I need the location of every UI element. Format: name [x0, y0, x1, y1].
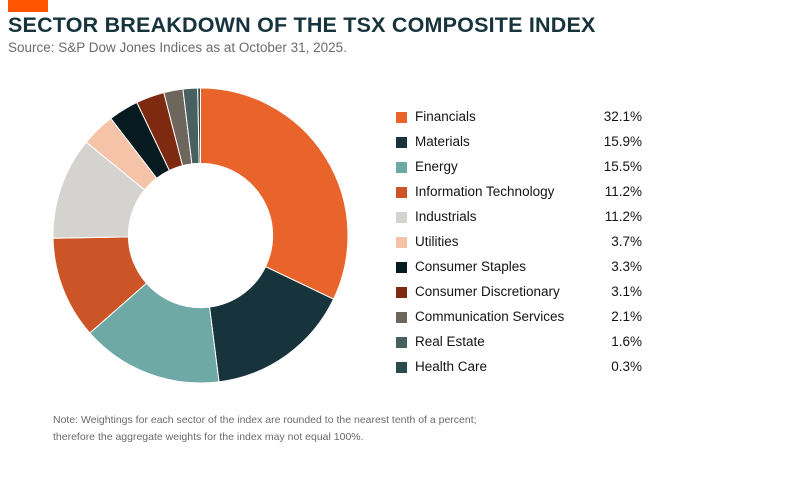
legend-color-swatch: [396, 212, 407, 223]
legend-item[interactable]: Real Estate1.6%: [396, 329, 642, 354]
legend-item-label: Utilities: [415, 229, 459, 254]
legend-item-label: Information Technology: [415, 179, 554, 204]
legend-item[interactable]: Information Technology11.2%: [396, 179, 642, 204]
legend-color-swatch: [396, 287, 407, 298]
footnote-line-1: Note: Weightings for each sector of the …: [53, 412, 573, 429]
legend-item[interactable]: Materials15.9%: [396, 129, 642, 154]
legend-item-value: 0.3%: [572, 354, 642, 379]
legend-item[interactable]: Communication Services2.1%: [396, 304, 642, 329]
legend-item-value: 32.1%: [572, 104, 642, 129]
chart-footnote: Note: Weightings for each sector of the …: [53, 412, 573, 446]
legend-item-label: Industrials: [415, 204, 477, 229]
legend-color-swatch: [396, 312, 407, 323]
legend-item-label: Communication Services: [415, 304, 564, 329]
legend-item-label: Health Care: [415, 354, 487, 379]
legend-item[interactable]: Industrials11.2%: [396, 204, 642, 229]
legend-item-value: 1.6%: [572, 329, 642, 354]
legend-color-swatch: [396, 162, 407, 173]
legend-item-label: Real Estate: [415, 329, 485, 354]
legend-color-swatch: [396, 112, 407, 123]
footnote-line-2: therefore the aggregate weights for the …: [53, 429, 573, 446]
legend-item-value: 15.5%: [572, 154, 642, 179]
donut-slice[interactable]: [201, 88, 349, 299]
legend-item-label: Energy: [415, 154, 458, 179]
legend-color-swatch: [396, 237, 407, 248]
legend-item-label: Consumer Discretionary: [415, 279, 560, 304]
legend-color-swatch: [396, 337, 407, 348]
legend-color-swatch: [396, 262, 407, 273]
legend-item-value: 11.2%: [572, 204, 642, 229]
legend-item-label: Financials: [415, 104, 476, 129]
legend-item-value: 3.7%: [572, 229, 642, 254]
legend-item-label: Consumer Staples: [415, 254, 526, 279]
legend-item[interactable]: Utilities3.7%: [396, 229, 642, 254]
legend-item-value: 2.1%: [572, 304, 642, 329]
chart-legend: Financials32.1%Materials15.9%Energy15.5%…: [396, 104, 642, 379]
donut-chart: [53, 88, 348, 383]
legend-item-value: 3.3%: [572, 254, 642, 279]
legend-item[interactable]: Health Care0.3%: [396, 354, 642, 379]
legend-color-swatch: [396, 137, 407, 148]
legend-color-swatch: [396, 187, 407, 198]
legend-color-swatch: [396, 362, 407, 373]
legend-item-value: 3.1%: [572, 279, 642, 304]
legend-item[interactable]: Consumer Staples3.3%: [396, 254, 642, 279]
legend-item[interactable]: Financials32.1%: [396, 104, 642, 129]
legend-item-label: Materials: [415, 129, 470, 154]
legend-item-value: 15.9%: [572, 129, 642, 154]
legend-item-value: 11.2%: [572, 179, 642, 204]
legend-item[interactable]: Consumer Discretionary3.1%: [396, 279, 642, 304]
legend-item[interactable]: Energy15.5%: [396, 154, 642, 179]
